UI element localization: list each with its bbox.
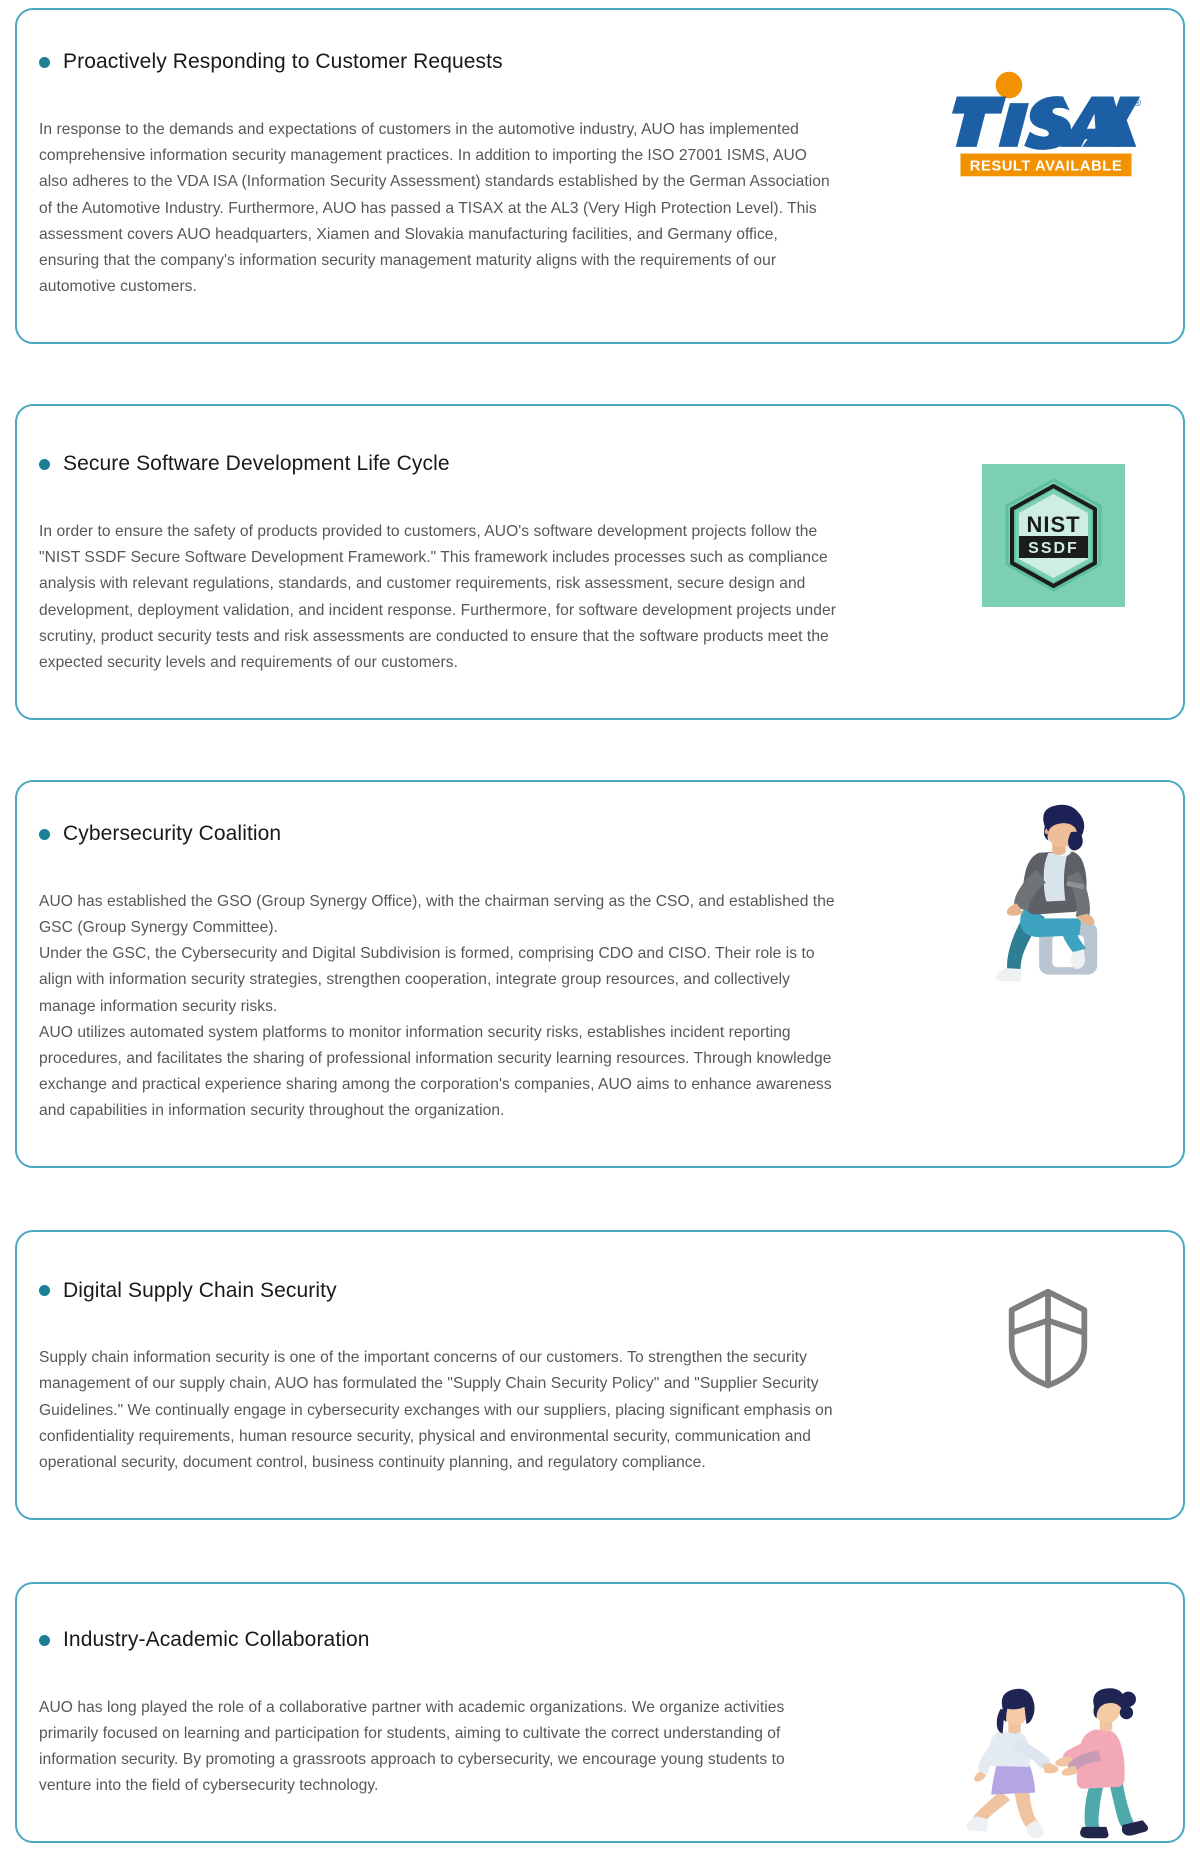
card-media: NIST SSDF bbox=[953, 406, 1183, 607]
card-content: Digital Supply Chain Security Supply cha… bbox=[17, 1232, 953, 1518]
card-media bbox=[948, 1672, 1183, 1841]
card-content: Industry-Academic Collaboration AUO has … bbox=[17, 1584, 948, 1841]
svg-text:®: ® bbox=[1133, 98, 1141, 109]
card-cybersecurity-coalition: Cybersecurity Coalition AUO has establis… bbox=[15, 780, 1185, 1168]
seated-person-illustration bbox=[981, 804, 1131, 992]
card-paragraph: AUO has long played the role of a collab… bbox=[39, 1695, 839, 1800]
tisax-logo: ® RESULT AVAILABLE bbox=[951, 68, 1141, 178]
card-content: Cybersecurity Coalition AUO has establis… bbox=[17, 782, 953, 1166]
nist-badge-bottom-label: SSDF bbox=[1028, 540, 1079, 557]
card-proactively-responding-to-customer-requests: Proactively Responding to Customer Reque… bbox=[15, 8, 1185, 344]
nist-badge-top-label: NIST bbox=[1026, 512, 1080, 537]
bullet-icon bbox=[39, 57, 50, 68]
card-title: Secure Software Development Life Cycle bbox=[63, 451, 450, 477]
card-title-row: Industry-Academic Collaboration bbox=[39, 1610, 938, 1671]
bullet-icon bbox=[39, 1635, 50, 1646]
card-content: Proactively Responding to Customer Reque… bbox=[17, 10, 933, 342]
card-media bbox=[953, 1232, 1183, 1391]
card-media: ® RESULT AVAILABLE bbox=[933, 10, 1183, 178]
card-title-row: Proactively Responding to Customer Reque… bbox=[39, 32, 923, 93]
bullet-icon bbox=[39, 1285, 50, 1296]
card-industry-academic-collaboration: Industry-Academic Collaboration AUO has … bbox=[15, 1582, 1185, 1843]
card-title-row: Digital Supply Chain Security bbox=[39, 1260, 943, 1321]
card-title: Proactively Responding to Customer Reque… bbox=[63, 49, 503, 75]
card-paragraph: AUO has established the GSO (Group Syner… bbox=[39, 889, 839, 1125]
svg-text:RESULT AVAILABLE: RESULT AVAILABLE bbox=[970, 159, 1122, 175]
card-media bbox=[953, 782, 1183, 992]
card-title-row: Secure Software Development Life Cycle bbox=[39, 434, 943, 495]
card-digital-supply-chain-security: Digital Supply Chain Security Supply cha… bbox=[15, 1230, 1185, 1520]
card-title: Cybersecurity Coalition bbox=[63, 821, 281, 847]
bullet-icon bbox=[39, 829, 50, 840]
shield-icon bbox=[1005, 1286, 1091, 1391]
card-title-row: Cybersecurity Coalition bbox=[39, 804, 943, 865]
two-people-illustration bbox=[955, 1684, 1155, 1841]
card-secure-software-development-life-cycle: Secure Software Development Life Cycle I… bbox=[15, 404, 1185, 720]
info-security-cards-page: Proactively Responding to Customer Reque… bbox=[0, 0, 1200, 1853]
card-paragraph: In order to ensure the safety of product… bbox=[39, 519, 839, 676]
card-paragraph: In response to the demands and expectati… bbox=[39, 117, 839, 300]
card-title: Digital Supply Chain Security bbox=[63, 1278, 337, 1304]
card-title: Industry-Academic Collaboration bbox=[63, 1627, 370, 1653]
card-content: Secure Software Development Life Cycle I… bbox=[17, 406, 953, 718]
card-paragraph: Supply chain information security is one… bbox=[39, 1345, 839, 1476]
nist-ssdf-badge-icon: NIST SSDF bbox=[982, 464, 1125, 607]
bullet-icon bbox=[39, 459, 50, 470]
